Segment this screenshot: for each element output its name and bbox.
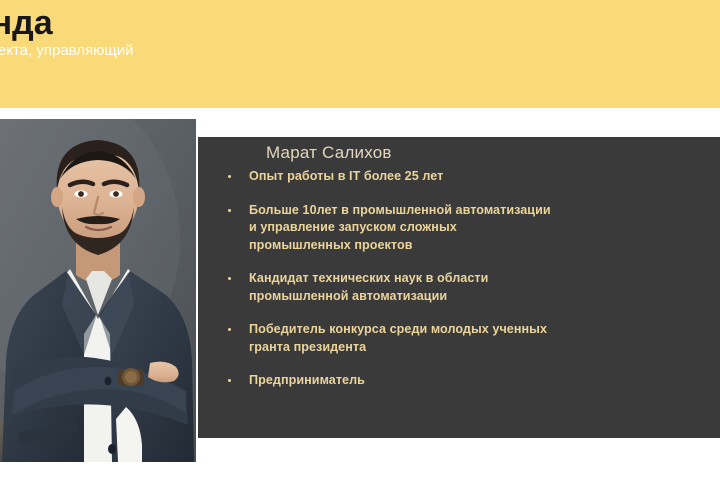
credential-line: Опыт работы в IT более 25 лет bbox=[249, 168, 704, 186]
credential-line: и управление запуском сложных bbox=[249, 219, 704, 237]
credential-item: Победитель конкурса среди молодых ученны… bbox=[216, 321, 704, 356]
credential-line: Предприниматель bbox=[249, 372, 704, 390]
credential-item: Предприниматель bbox=[216, 372, 704, 390]
credential-line: Кандидат технических наук в области bbox=[249, 270, 704, 288]
credential-line: Победитель конкурса среди молодых ученны… bbox=[249, 321, 704, 339]
bullet-dot-icon bbox=[228, 175, 231, 178]
portrait-photo bbox=[0, 119, 196, 462]
presentation-slide: манда ватель проекта, управляющий bbox=[0, 0, 720, 480]
bullet-dot-icon bbox=[228, 277, 231, 280]
info-panel: Марат Салихов Опыт работы в IT более 25 … bbox=[198, 137, 720, 438]
page-title: манда bbox=[0, 2, 53, 44]
bullet-dot-icon bbox=[228, 328, 231, 331]
credential-item: Кандидат технических наук в областипромы… bbox=[216, 270, 704, 305]
header-band: манда ватель проекта, управляющий bbox=[0, 0, 720, 108]
credentials-list: Опыт работы в IT более 25 летБольше 10ле… bbox=[216, 168, 704, 390]
person-name: Марат Салихов bbox=[266, 143, 392, 163]
bullet-dot-icon bbox=[228, 379, 231, 382]
credential-line: промышленных проектов bbox=[249, 237, 704, 255]
credential-item: Больше 10лет в промышленной автоматизаци… bbox=[216, 202, 704, 255]
credential-item: Опыт работы в IT более 25 лет bbox=[216, 168, 704, 186]
credential-line: промышленной автоматизации bbox=[249, 288, 704, 306]
credential-line: Больше 10лет в промышленной автоматизаци… bbox=[249, 202, 704, 220]
portrait-image bbox=[0, 119, 196, 462]
bullet-dot-icon bbox=[228, 209, 231, 212]
page-subtitle: ватель проекта, управляющий bbox=[0, 41, 134, 61]
credential-line: гранта президента bbox=[249, 339, 704, 357]
